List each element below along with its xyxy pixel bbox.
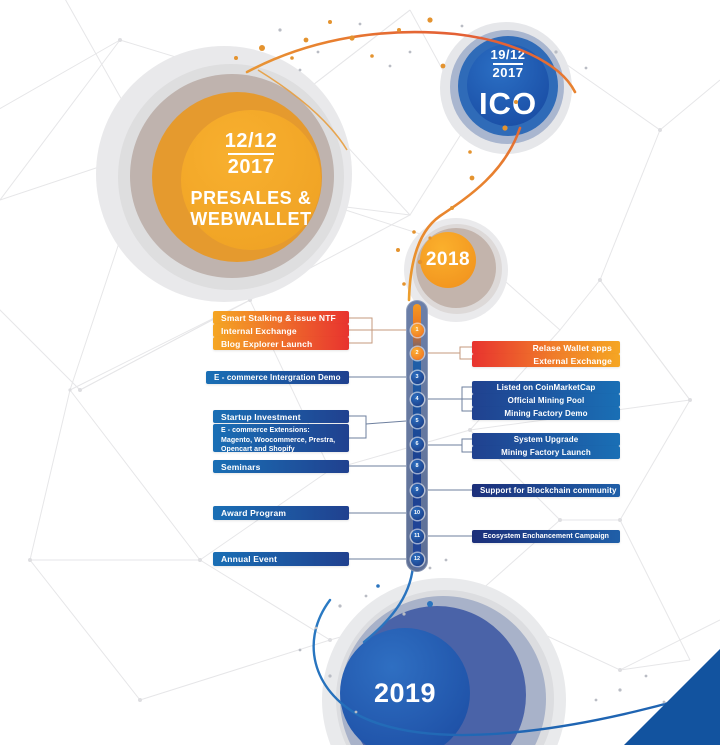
label-text: Mining Factory Launch [480, 448, 612, 457]
timeline-node-2[interactable]: 2 [411, 347, 424, 360]
timeline-node-11[interactable]: 11 [411, 530, 424, 543]
label-official-mining-pool[interactable]: Official Mining Pool [472, 394, 620, 407]
label-connector-lines [0, 0, 720, 745]
label-ecosystem-enchancement-campaign[interactable]: Ecosystem Enchancement Campaign [472, 530, 620, 543]
timeline-node-10[interactable]: 10 [411, 507, 424, 520]
corner-wedge-decoration [624, 649, 720, 745]
label-text: E - commerce Intergration Demo [214, 373, 341, 382]
label-text: External Exchange [480, 356, 612, 366]
timeline-node-1[interactable]: 1 [411, 324, 424, 337]
timeline-node-9[interactable]: 9 [411, 484, 424, 497]
label-external-exchange[interactable]: External Exchange [472, 354, 620, 367]
label-blog-explorer-launch[interactable]: Blog Explorer Launch [213, 337, 349, 350]
label-text: Award Program [221, 508, 341, 518]
timeline-node-5[interactable]: 5 [411, 415, 424, 428]
label-text: Official Mining Pool [480, 396, 612, 405]
label-ecommerce-extensions[interactable]: E - commerce Extensions: Magento, Woocom… [213, 424, 349, 452]
label-text: Annual Event [221, 554, 341, 564]
label-text: Blog Explorer Launch [221, 339, 341, 349]
label-relase-wallet-apps[interactable]: Relase Wallet apps [472, 341, 620, 354]
label-award-program[interactable]: Award Program [213, 506, 349, 520]
timeline-rail: 1 2 3 4 5 6 8 9 10 11 12 [406, 300, 428, 572]
roadmap-infographic: 12/12 2017 PRESALES & WEBWALLET 19/12 20… [0, 0, 720, 745]
label-system-upgrade[interactable]: System Upgrade [472, 433, 620, 446]
label-text: Relase Wallet apps [480, 343, 612, 353]
label-internal-exchange[interactable]: Internal Exchange [213, 324, 349, 337]
label-text: Ecosystem Enchancement Campaign [480, 532, 612, 542]
timeline-node-12[interactable]: 12 [411, 553, 424, 566]
label-text: Smart Stalking & issue NTF [221, 313, 341, 323]
label-mining-factory-demo[interactable]: Mining Factory Demo [472, 407, 620, 420]
label-text: Internal Exchange [221, 326, 341, 336]
label-mining-factory-launch[interactable]: Mining Factory Launch [472, 446, 620, 459]
label-smart-stalking[interactable]: Smart Stalking & issue NTF [213, 311, 349, 324]
timeline-node-8[interactable]: 8 [411, 460, 424, 473]
timeline-node-6[interactable]: 6 [411, 438, 424, 451]
label-ecommerce-integration-demo[interactable]: E - commerce Intergration Demo [206, 371, 349, 384]
label-listed-coinmarketcap[interactable]: Listed on CoinMarketCap [472, 381, 620, 394]
label-text: E - commerce Extensions: Magento, Woocom… [221, 426, 341, 452]
label-text: Mining Factory Demo [480, 409, 612, 418]
label-text: Listed on CoinMarketCap [480, 383, 612, 392]
label-text: Support for Blockchain community [480, 486, 612, 495]
timeline-rail-inner [413, 304, 421, 568]
timeline-node-4[interactable]: 4 [411, 393, 424, 406]
label-startup-investment[interactable]: Startup Investment [213, 410, 349, 423]
label-seminars[interactable]: Seminars [213, 460, 349, 473]
label-text: Seminars [221, 462, 341, 472]
label-support-blockchain-community[interactable]: Support for Blockchain community [472, 484, 620, 497]
timeline-node-3[interactable]: 3 [411, 371, 424, 384]
label-text: System Upgrade [480, 435, 612, 444]
label-text: Startup Investment [221, 412, 341, 422]
label-annual-event[interactable]: Annual Event [213, 552, 349, 566]
